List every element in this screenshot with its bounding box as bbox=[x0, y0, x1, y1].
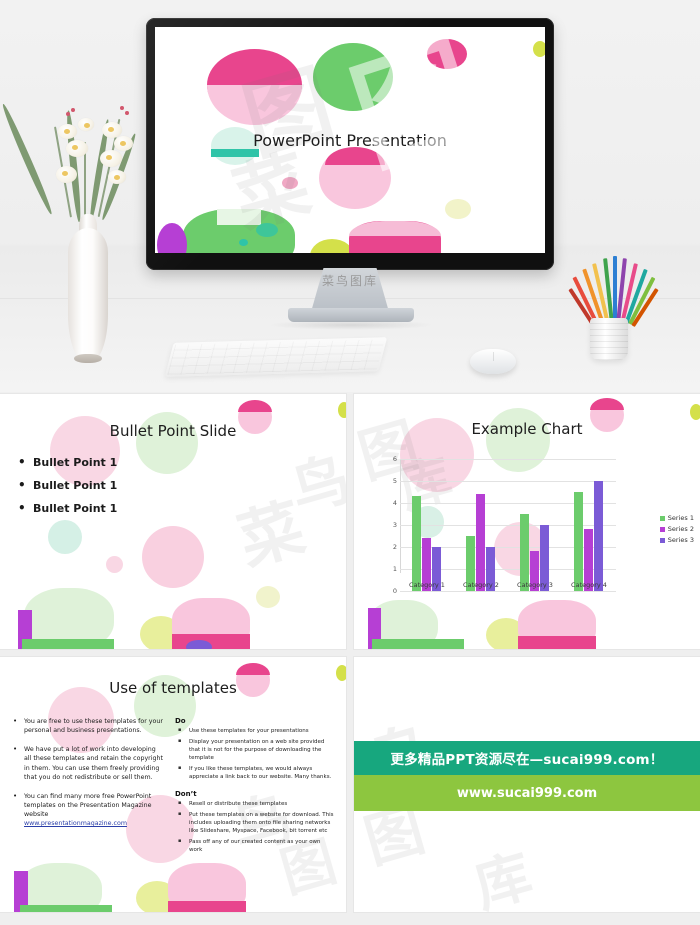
templates-left-list: You are free to use these templates for … bbox=[12, 717, 164, 838]
legend-label: Series 3 bbox=[668, 536, 694, 544]
list-item: Pass off any of our created content as y… bbox=[175, 839, 335, 855]
monitor-chin bbox=[146, 253, 554, 270]
chart-bar-group bbox=[412, 459, 441, 591]
slide-heading: Example Chart bbox=[354, 420, 700, 438]
bullet-list: Bullet Point 1 Bullet Point 1 Bullet Poi… bbox=[18, 456, 117, 525]
chart-plot-area: 0123456Category 1Category 2Category 3Cat… bbox=[400, 459, 616, 591]
chart-y-tick-label: 6 bbox=[393, 455, 397, 463]
promo-banner-primary: 更多精品PPT资源尽在—sucai999.com！ bbox=[354, 741, 700, 775]
chart-bar bbox=[520, 514, 529, 591]
legend-swatch bbox=[660, 516, 665, 521]
slide-example-chart[interactable]: 图 库 Example Chart 0123456Category 1Categ… bbox=[354, 394, 700, 649]
dont-list: Resell or distribute these templates Put… bbox=[175, 801, 335, 855]
stand-shadow bbox=[268, 320, 434, 330]
list-item-text: You can find many more free PowerPoint t… bbox=[24, 793, 152, 818]
do-list: Use these templates for your presentatio… bbox=[175, 728, 335, 782]
promo-banner-secondary: www.sucai999.com bbox=[354, 775, 700, 811]
slide-thumbnail-grid: 菜 鸟 Bullet Point Slide Bullet Point 1 Bu… bbox=[0, 394, 700, 925]
list-item: Display your presentation on a web site … bbox=[175, 739, 335, 763]
list-item: Resell or distribute these templates bbox=[175, 801, 335, 809]
chart-legend-item: Series 1 bbox=[660, 514, 694, 522]
hero-photo: 图 菜 PowerPoint Presentation 菜鸟图库 bbox=[0, 0, 700, 392]
list-item: Bullet Point 1 bbox=[18, 456, 117, 469]
chart-y-tick-label: 5 bbox=[393, 477, 397, 485]
list-item: Bullet Point 1 bbox=[18, 502, 117, 515]
chart-y-tick-label: 0 bbox=[393, 587, 397, 595]
screenshot-page: 图 菜 PowerPoint Presentation 菜鸟图库 bbox=[0, 0, 700, 925]
chart-y-axis bbox=[400, 459, 401, 573]
list-item: If you like these templates, we would al… bbox=[175, 766, 335, 782]
legend-swatch bbox=[660, 527, 665, 532]
legend-label: Series 2 bbox=[668, 525, 694, 533]
title-slide: 图 菜 PowerPoint Presentation bbox=[155, 27, 545, 253]
chart-category-label: Category 4 bbox=[571, 581, 607, 589]
chart-y-tick-label: 3 bbox=[393, 521, 397, 529]
chart-bar-group bbox=[520, 459, 549, 591]
slide-heading: Bullet Point Slide bbox=[0, 422, 346, 440]
chart-category-label: Category 3 bbox=[517, 581, 553, 589]
flower-vase bbox=[22, 78, 152, 368]
chart-bar-group bbox=[574, 459, 603, 591]
legend-label: Series 1 bbox=[668, 514, 694, 522]
slide-promo[interactable]: 鸟 图 库 更多精品PPT资源尽在—sucai999.com！ www.suca… bbox=[354, 657, 700, 912]
chart-legend-item: Series 2 bbox=[660, 525, 694, 533]
chart-bar bbox=[594, 481, 603, 591]
slide-bullet-point[interactable]: 菜 鸟 Bullet Point Slide Bullet Point 1 Bu… bbox=[0, 394, 346, 649]
chart-y-tick-label: 1 bbox=[393, 565, 397, 573]
list-item: We have put a lot of work into developin… bbox=[12, 745, 164, 782]
chart-gridline bbox=[400, 591, 616, 592]
templates-right-column: Do Use these templates for your presenta… bbox=[175, 717, 335, 863]
dont-heading: Don’t bbox=[175, 790, 335, 798]
chart-legend: Series 1Series 2Series 3 bbox=[660, 514, 694, 547]
chart-bar bbox=[574, 492, 583, 591]
chart-bar bbox=[412, 496, 421, 591]
list-item: You are free to use these templates for … bbox=[12, 717, 164, 735]
chart-category-label: Category 1 bbox=[409, 581, 445, 589]
chart-bar bbox=[476, 494, 485, 591]
slide-heading: Use of templates bbox=[0, 679, 346, 697]
list-item: Use these templates for your presentatio… bbox=[175, 728, 335, 736]
chart-legend-item: Series 3 bbox=[660, 536, 694, 544]
chart-y-tick-label: 2 bbox=[393, 543, 397, 551]
mouse bbox=[470, 349, 516, 374]
slide-use-of-templates[interactable]: 鸟 图 Use of templates You are free to use… bbox=[0, 657, 346, 912]
title-slide-heading: PowerPoint Presentation bbox=[155, 131, 545, 150]
list-item: You can find many more free PowerPoint t… bbox=[12, 792, 164, 829]
presentation-magazine-link[interactable]: www.presentationmagazine.com bbox=[24, 819, 164, 828]
keyboard bbox=[165, 337, 387, 377]
monitor: 图 菜 PowerPoint Presentation bbox=[146, 18, 554, 270]
legend-swatch bbox=[660, 538, 665, 543]
do-heading: Do bbox=[175, 717, 335, 725]
chart-bar-group bbox=[466, 459, 495, 591]
list-item: Put these templates on a website for dow… bbox=[175, 812, 335, 836]
chart-y-tick-label: 4 bbox=[393, 499, 397, 507]
chart-category-label: Category 2 bbox=[463, 581, 499, 589]
list-item: Bullet Point 1 bbox=[18, 479, 117, 492]
bar-chart: 0123456Category 1Category 2Category 3Cat… bbox=[384, 459, 616, 609]
